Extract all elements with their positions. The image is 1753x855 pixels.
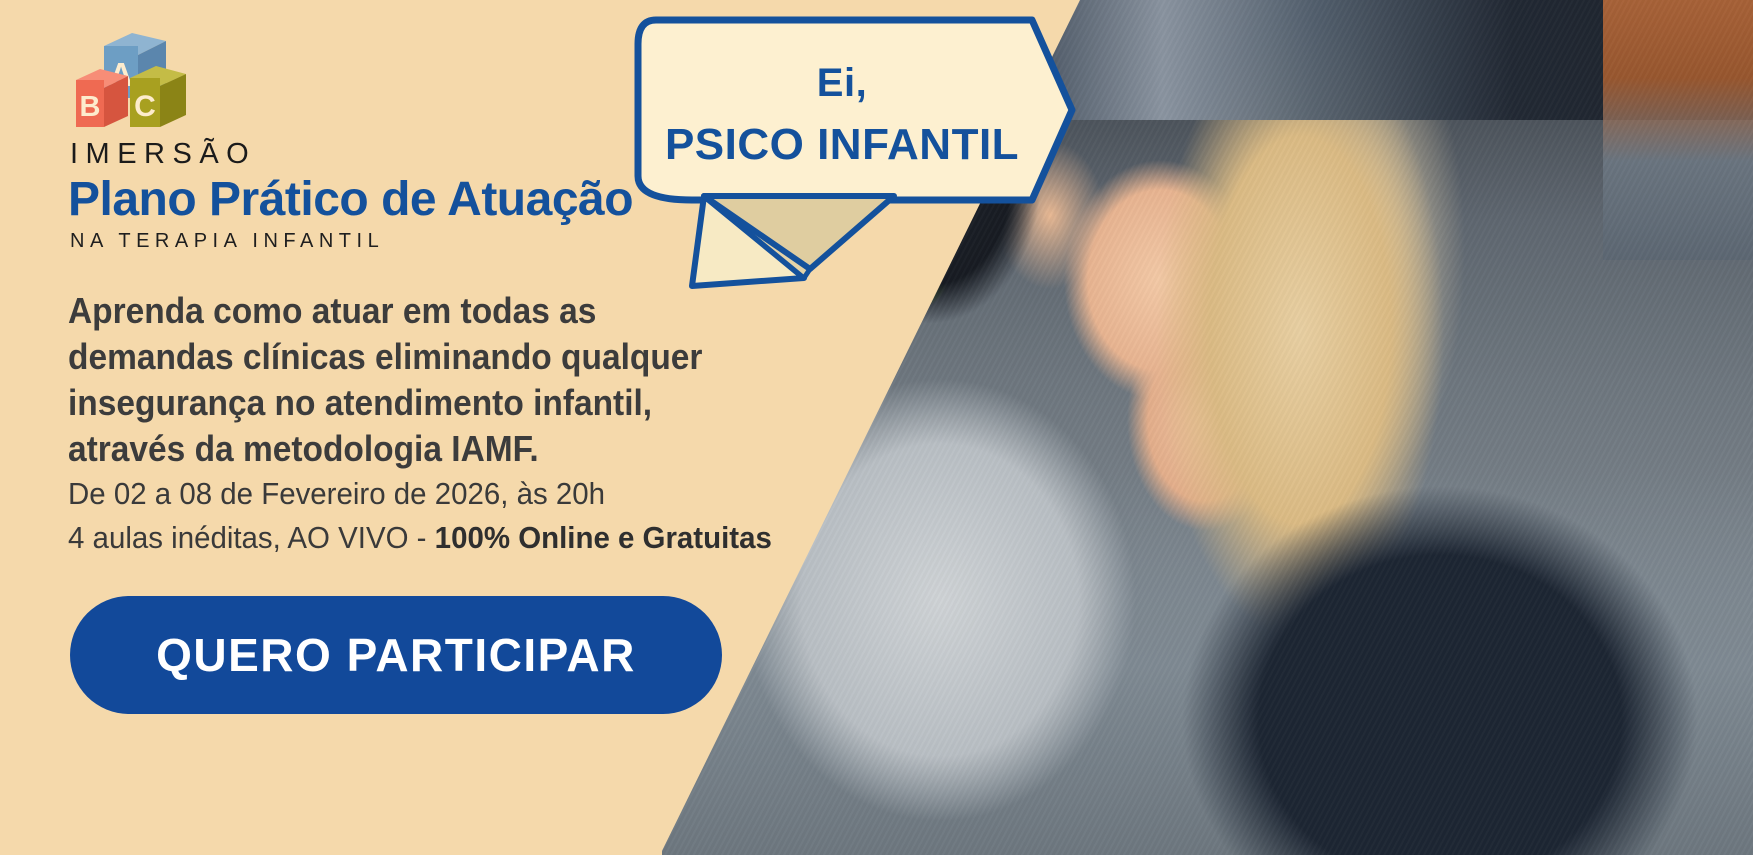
logo-block-b: B [76,69,128,127]
svg-text:B: B [80,91,101,123]
abc-blocks-logo: A B C [70,28,210,133]
bubble-body [638,20,1072,200]
lead-line-3: insegurança no atendimento infantil, [68,380,775,426]
event-date-line: De 02 a 08 de Fevereiro de 2026, às 20h [68,472,772,516]
promo-banner: A B C IMERSÃO Plano Prático de Atuação N… [0,0,1753,855]
subtitle-label: NA TERAPIA INFANTIL [70,230,384,253]
lead-line-2: demandas clínicas eliminando qualquer [68,334,775,380]
logo-block-c: C [130,66,186,127]
quero-participar-button[interactable]: QUERO PARTICIPAR [70,596,722,714]
page-title: Plano Prático de Atuação [68,172,633,227]
svg-text:C: C [134,90,156,123]
lead-line-4: através da metodologia IAMF. [68,426,775,472]
lead-paragraph: Aprenda como atuar em todas as demandas … [68,288,775,472]
event-format-line: 4 aulas inéditas, AO VIVO - 100% Online … [68,516,772,560]
event-details: De 02 a 08 de Fevereiro de 2026, às 20h … [68,472,772,560]
event-format-prefix: 4 aulas inéditas, AO VIVO - [68,520,435,555]
kicker-label: IMERSÃO [70,138,256,171]
speech-bubble: Ei, PSICO INFANTIL [632,14,1077,304]
event-format-highlight: 100% Online e Gratuitas [435,520,772,555]
